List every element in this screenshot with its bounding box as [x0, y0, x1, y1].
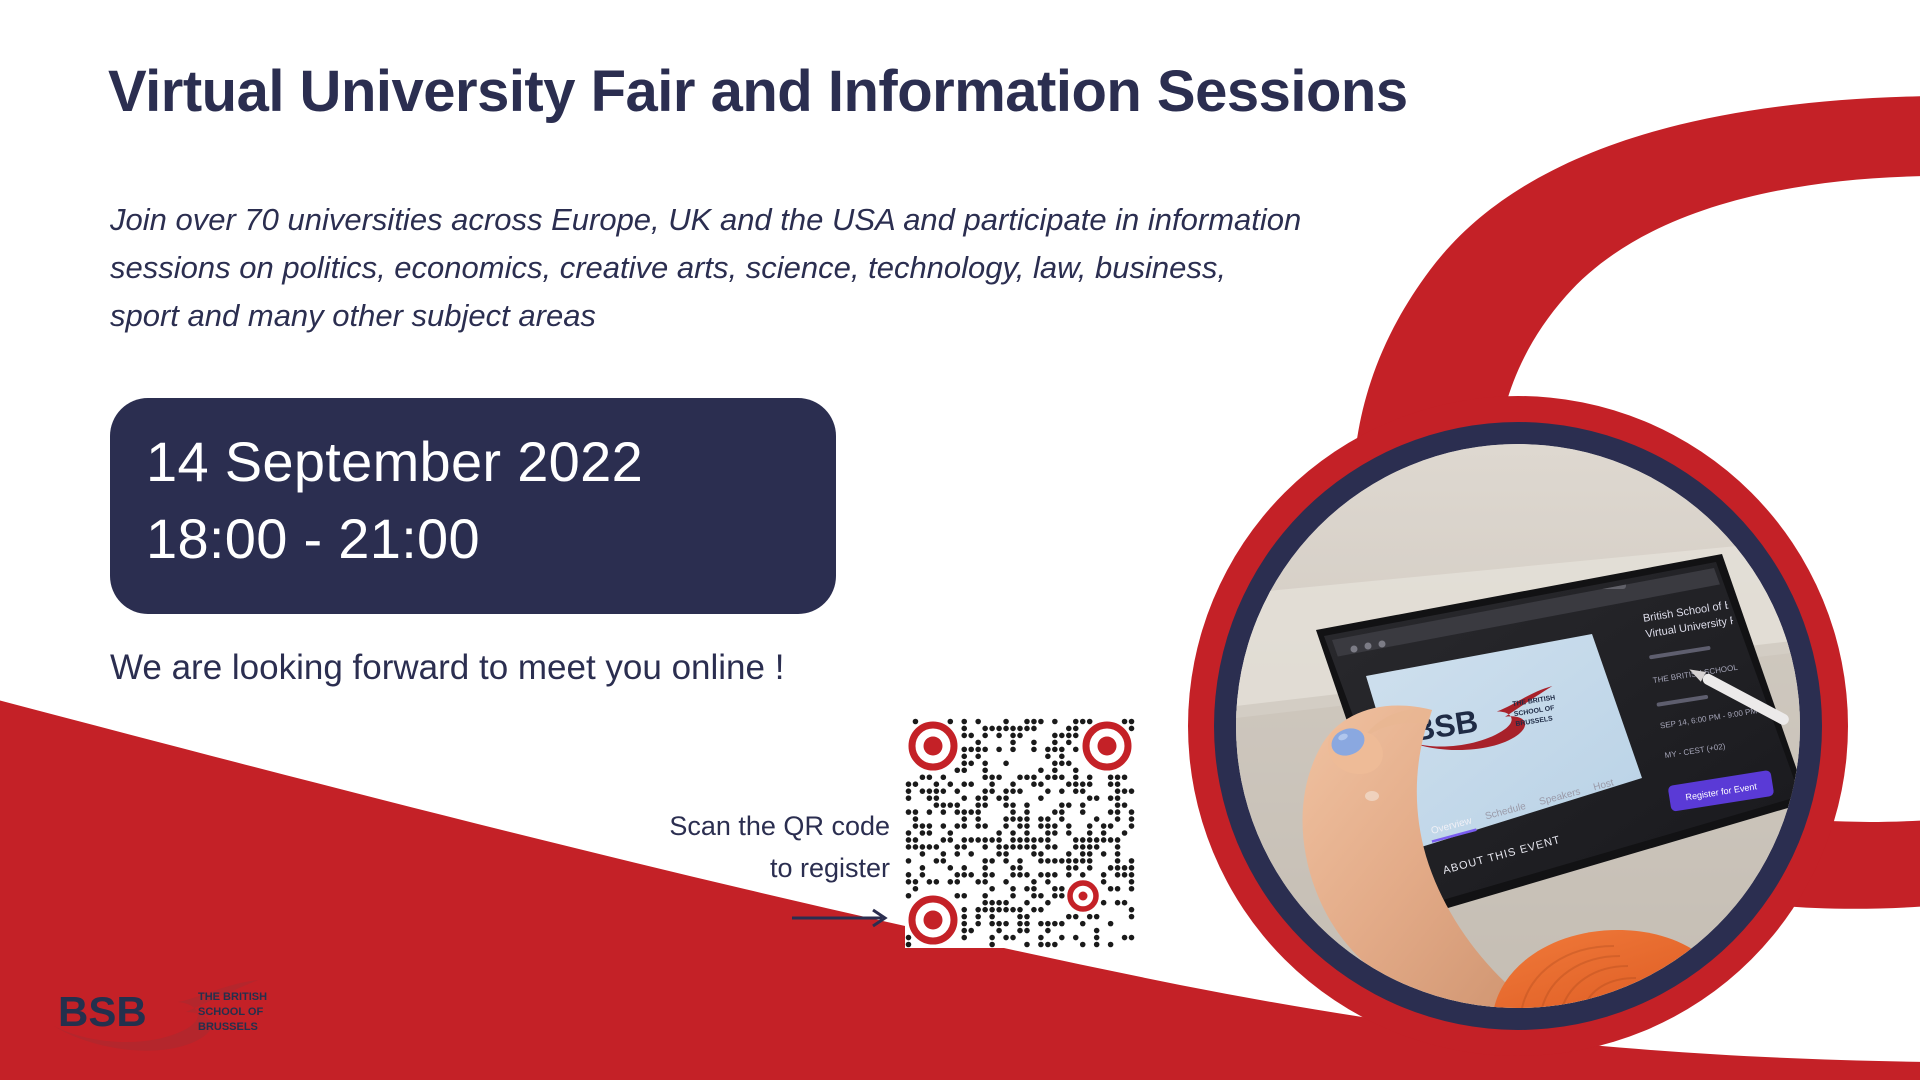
bsb-sub-line-1: THE BRITISH: [198, 991, 267, 1003]
bsb-sub-line-3: BRUSSELS: [198, 1021, 258, 1033]
qr-code-icon[interactable]: [905, 718, 1135, 948]
qr-instruction-label: Scan the QR code to register: [520, 806, 890, 890]
tagline: We are looking forward to meet you onlin…: [110, 648, 784, 688]
event-time: 18:00 - 21:00: [146, 501, 836, 578]
event-date: 14 September 2022: [146, 424, 836, 501]
intro-paragraph: Join over 70 universities across Europe,…: [110, 196, 1690, 340]
qr-label-line-1: Scan the QR code: [520, 806, 890, 848]
intro-line-2: sessions on politics, economics, creativ…: [110, 244, 1690, 292]
hand-holding-tablet-photo: BSB THE BRITISH SCHOOL OF BRUSSELS Briti…: [1236, 444, 1800, 1008]
intro-line-1: Join over 70 universities across Europe,…: [110, 196, 1690, 244]
qr-label-line-2: to register: [520, 848, 890, 890]
bsb-wordmark: BSB: [58, 988, 147, 1035]
intro-line-3: sport and many other subject areas: [110, 292, 1690, 340]
photo-outer-red-ring: BSB THE BRITISH SCHOOL OF BRUSSELS Briti…: [1188, 396, 1848, 1056]
arrow-right-icon: [790, 905, 894, 931]
page-title: Virtual University Fair and Information …: [108, 60, 1708, 124]
bsb-logo: BSB THE BRITISH SCHOOL OF BRUSSELS: [48, 968, 278, 1064]
poster-canvas: Virtual University Fair and Information …: [0, 0, 1920, 1080]
photo-inner-navy-ring: BSB THE BRITISH SCHOOL OF BRUSSELS Briti…: [1214, 422, 1822, 1030]
event-datetime-badge: 14 September 2022 18:00 - 21:00: [110, 398, 836, 614]
bsb-sub-line-2: SCHOOL OF: [198, 1006, 263, 1018]
photo-illustration: BSB THE BRITISH SCHOOL OF BRUSSELS Briti…: [1236, 444, 1800, 1008]
